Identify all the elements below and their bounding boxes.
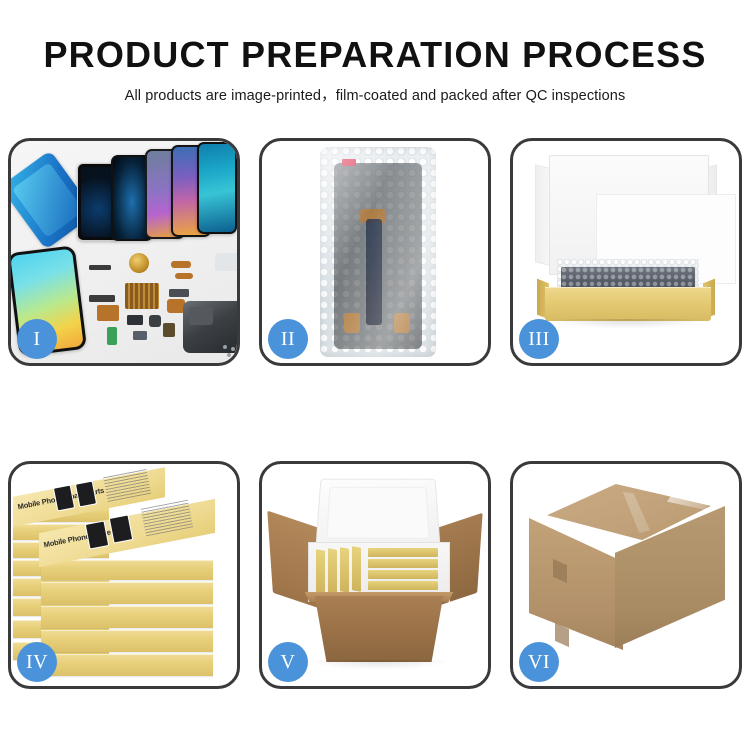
step-badge-3: III <box>519 319 559 359</box>
content-box-6 <box>368 559 438 568</box>
carton-front-face <box>306 596 452 662</box>
part-battery-connector <box>107 327 117 345</box>
part-tool-tray <box>215 253 237 271</box>
step-badge-2: II <box>268 319 308 359</box>
part-screw-3 <box>227 353 231 357</box>
part-earpiece-mesh <box>89 265 111 270</box>
box-lid-white <box>549 155 709 275</box>
step-badge-5: V <box>268 642 308 682</box>
step-panel-2: II <box>259 138 491 366</box>
page-subtitle: All products are image-printed，film-coat… <box>0 84 750 105</box>
part-camera-flex <box>97 305 119 321</box>
page-title: PRODUCT PREPARATION PROCESS <box>0 36 750 74</box>
stacked-box-r5 <box>41 654 213 676</box>
part-vibration-motor <box>129 253 149 273</box>
content-box-8 <box>368 581 438 590</box>
part-speaker <box>169 289 189 297</box>
stacked-box-r3 <box>41 606 213 628</box>
carton-drop-shadow <box>308 660 450 670</box>
part-button-module <box>127 315 143 325</box>
part-connector-strip <box>89 295 115 302</box>
content-box-4 <box>352 546 361 592</box>
foam-box-lid <box>315 479 440 548</box>
content-box-1 <box>316 549 325 594</box>
part-screw-1 <box>223 345 227 349</box>
part-sim-tray <box>163 323 175 337</box>
product-preparation-infographic: PRODUCT PREPARATION PROCESS All products… <box>0 0 750 750</box>
sealed-carton <box>529 484 725 668</box>
stacked-box-r4 <box>41 630 213 652</box>
phone-screen-teal <box>197 142 237 234</box>
step-badge-6: VI <box>519 642 559 682</box>
part-camera-lens <box>149 315 161 327</box>
part-flex-cable-1 <box>171 261 191 268</box>
part-logic-board <box>125 283 159 309</box>
foam-box-contents <box>316 546 440 594</box>
bubble-wrap-bag <box>320 147 436 357</box>
content-box-5 <box>368 548 438 557</box>
spare-parts-group <box>83 249 237 361</box>
wrapped-flex-cable <box>366 219 382 325</box>
content-box-3 <box>340 547 349 593</box>
step-badge-4: IV <box>17 642 57 682</box>
qc-sticker <box>342 159 356 166</box>
box-drop-shadow <box>549 319 707 329</box>
stacked-box-r2 <box>41 582 213 604</box>
part-flex-cable-2 <box>175 273 193 279</box>
content-box-7 <box>368 570 438 579</box>
step-panel-1: I <box>8 138 240 366</box>
content-box-2 <box>328 548 337 594</box>
part-back-housing <box>183 301 237 353</box>
step-panel-4: Mobile Phone Spare Parts Mobile Phone Sp… <box>8 461 240 689</box>
stacked-box-r1 <box>41 560 213 580</box>
steps-grid: I II <box>8 138 742 689</box>
step-panel-5: V <box>259 461 491 689</box>
box-front-kraft <box>545 287 711 321</box>
part-screw-2 <box>231 347 235 351</box>
step-panel-6: VI <box>510 461 742 689</box>
wrapped-connector-right <box>394 313 410 333</box>
header: PRODUCT PREPARATION PROCESS All products… <box>0 36 750 105</box>
carton-left-face <box>529 518 623 650</box>
step-panel-3: III <box>510 138 742 366</box>
wrapped-connector-left <box>344 313 360 333</box>
part-shield-can <box>133 331 147 340</box>
step-badge-1: I <box>17 319 57 359</box>
